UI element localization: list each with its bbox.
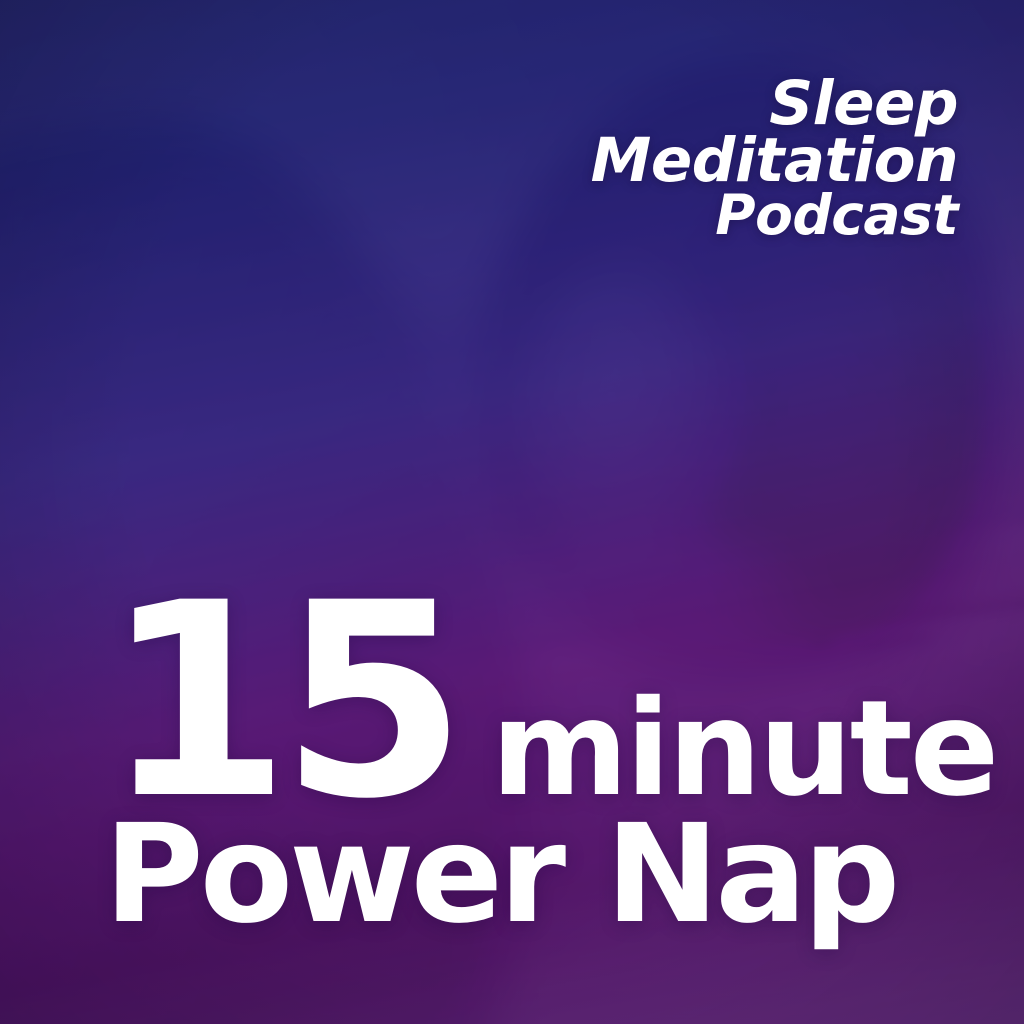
brand-lockup: Sleep Meditation Podcast <box>591 74 958 242</box>
episode-title-name: Power Nap <box>104 813 996 938</box>
episode-duration-unit: minute <box>491 698 996 801</box>
episode-duration-number: 15 <box>104 598 457 807</box>
episode-title-block: 15 minute Power Nap <box>104 598 996 938</box>
brand-line-meditation: Meditation <box>591 131 958 191</box>
episode-title-row-duration: 15 minute <box>104 598 996 807</box>
brand-line-podcast: Podcast <box>591 189 958 243</box>
podcast-cover-art: Sleep Meditation Podcast 15 minute Power… <box>0 0 1024 1024</box>
